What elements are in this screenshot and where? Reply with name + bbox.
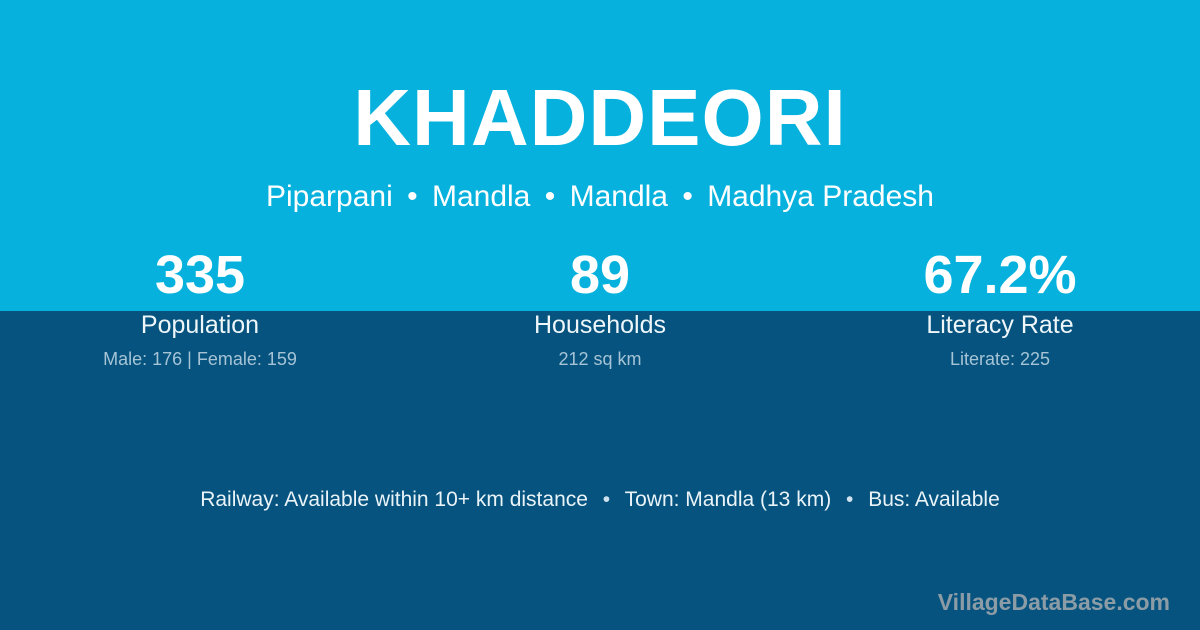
connectivity-item-bus: Bus: Available [868,488,1000,511]
card-header: KHADDEORI Piparpani • Mandla • Mandla • … [0,0,1200,213]
breadcrumb-item-block: Mandla [432,180,530,213]
stat-literacy-rate-caption: Literate: 225 [800,348,1200,370]
connectivity-summary: Railway: Available within 10+ km distanc… [0,486,1200,514]
breadcrumb-item-district: Mandla [570,180,668,213]
breadcrumb-separator: • [401,180,424,213]
breadcrumb-separator: • [676,180,699,213]
stat-population-value: 335 [0,246,400,304]
connectivity-item-railway: Railway: Available within 10+ km distanc… [200,488,588,511]
stat-population: 335 Population Male: 176 | Female: 159 [0,246,400,370]
village-info-card: KHADDEORI Piparpani • Mandla • Mandla • … [0,0,1200,630]
stat-population-label: Population [0,310,400,340]
stat-literacy-rate-value: 67.2% [800,246,1200,304]
site-watermark: VillageDataBase.com [938,588,1170,616]
stat-literacy-rate-label: Literacy Rate [800,310,1200,340]
stat-population-caption: Male: 176 | Female: 159 [0,348,400,370]
breadcrumb-item-state: Madhya Pradesh [707,180,934,213]
page-title: KHADDEORI [0,78,1200,158]
stat-literacy-rate: 67.2% Literacy Rate Literate: 225 [800,246,1200,370]
connectivity-separator: • [837,488,862,511]
breadcrumb: Piparpani • Mandla • Mandla • Madhya Pra… [0,180,1200,213]
connectivity-separator: • [594,488,619,511]
connectivity-item-town: Town: Mandla (13 km) [625,488,832,511]
stat-households: 89 Households 212 sq km [400,246,800,370]
stat-households-caption: 212 sq km [400,348,800,370]
stats-row: 335 Population Male: 176 | Female: 159 8… [0,246,1200,370]
stat-households-label: Households [400,310,800,340]
breadcrumb-item-panchayat: Piparpani [266,180,393,213]
breadcrumb-separator: • [539,180,562,213]
stat-households-value: 89 [400,246,800,304]
